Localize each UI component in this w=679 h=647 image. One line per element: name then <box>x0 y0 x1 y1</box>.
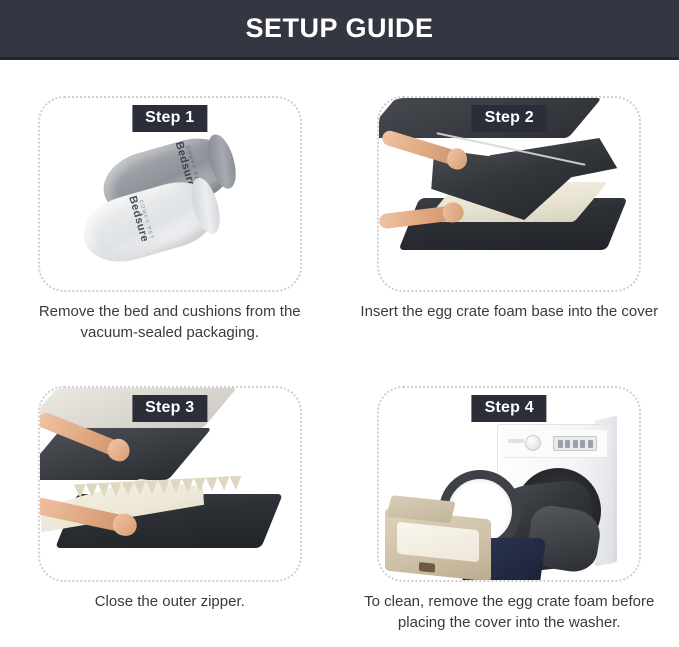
program-knob-icon <box>525 435 541 451</box>
step-cell-3: Step 3 Close the outer zipper. <box>0 350 340 640</box>
steps-grid: Step 1 Bedsure COMFY PET Bedsure COMFY P… <box>0 60 679 640</box>
dog-bed-logo-tag-icon <box>419 562 435 573</box>
detergent-drawer-icon <box>508 439 524 443</box>
step-caption-2: Insert the egg crate foam base into the … <box>359 301 659 322</box>
setup-guide-page: SETUP GUIDE Step 1 Bedsure COMFY PET Bed… <box>0 0 679 647</box>
step-badge-4: Step 4 <box>472 395 547 422</box>
step-card-3: Step 3 <box>38 386 302 582</box>
page-title: SETUP GUIDE <box>245 15 433 42</box>
display-segment <box>580 440 585 448</box>
dog-bed-icon <box>385 508 491 580</box>
display-segment <box>588 440 593 448</box>
step-cell-2: Step 2 Insert the egg crate foam base in… <box>340 60 679 350</box>
display-segment <box>573 440 578 448</box>
step-badge-2: Step 2 <box>472 105 547 132</box>
step-cell-1: Step 1 Bedsure COMFY PET Bedsure COMFY P… <box>0 60 340 350</box>
page-header: SETUP GUIDE <box>0 0 679 60</box>
step-card-2: Step 2 <box>377 96 641 292</box>
washer-display-icon <box>553 436 597 451</box>
step-badge-1: Step 1 <box>132 105 207 132</box>
washer-control-panel <box>503 430 607 458</box>
step-badge-3: Step 3 <box>132 395 207 422</box>
display-segment <box>565 440 570 448</box>
step-cell-4: Step 4 <box>340 350 679 640</box>
step-card-1: Step 1 Bedsure COMFY PET Bedsure COMFY P… <box>38 96 302 292</box>
step-caption-4: To clean, remove the egg crate foam befo… <box>359 591 659 634</box>
step-caption-3: Close the outer zipper. <box>20 591 320 612</box>
display-segment <box>558 440 563 448</box>
step-caption-1: Remove the bed and cushions from the vac… <box>20 301 320 344</box>
dog-bed-cushion-icon <box>397 522 479 563</box>
step-card-4: Step 4 <box>377 386 641 582</box>
